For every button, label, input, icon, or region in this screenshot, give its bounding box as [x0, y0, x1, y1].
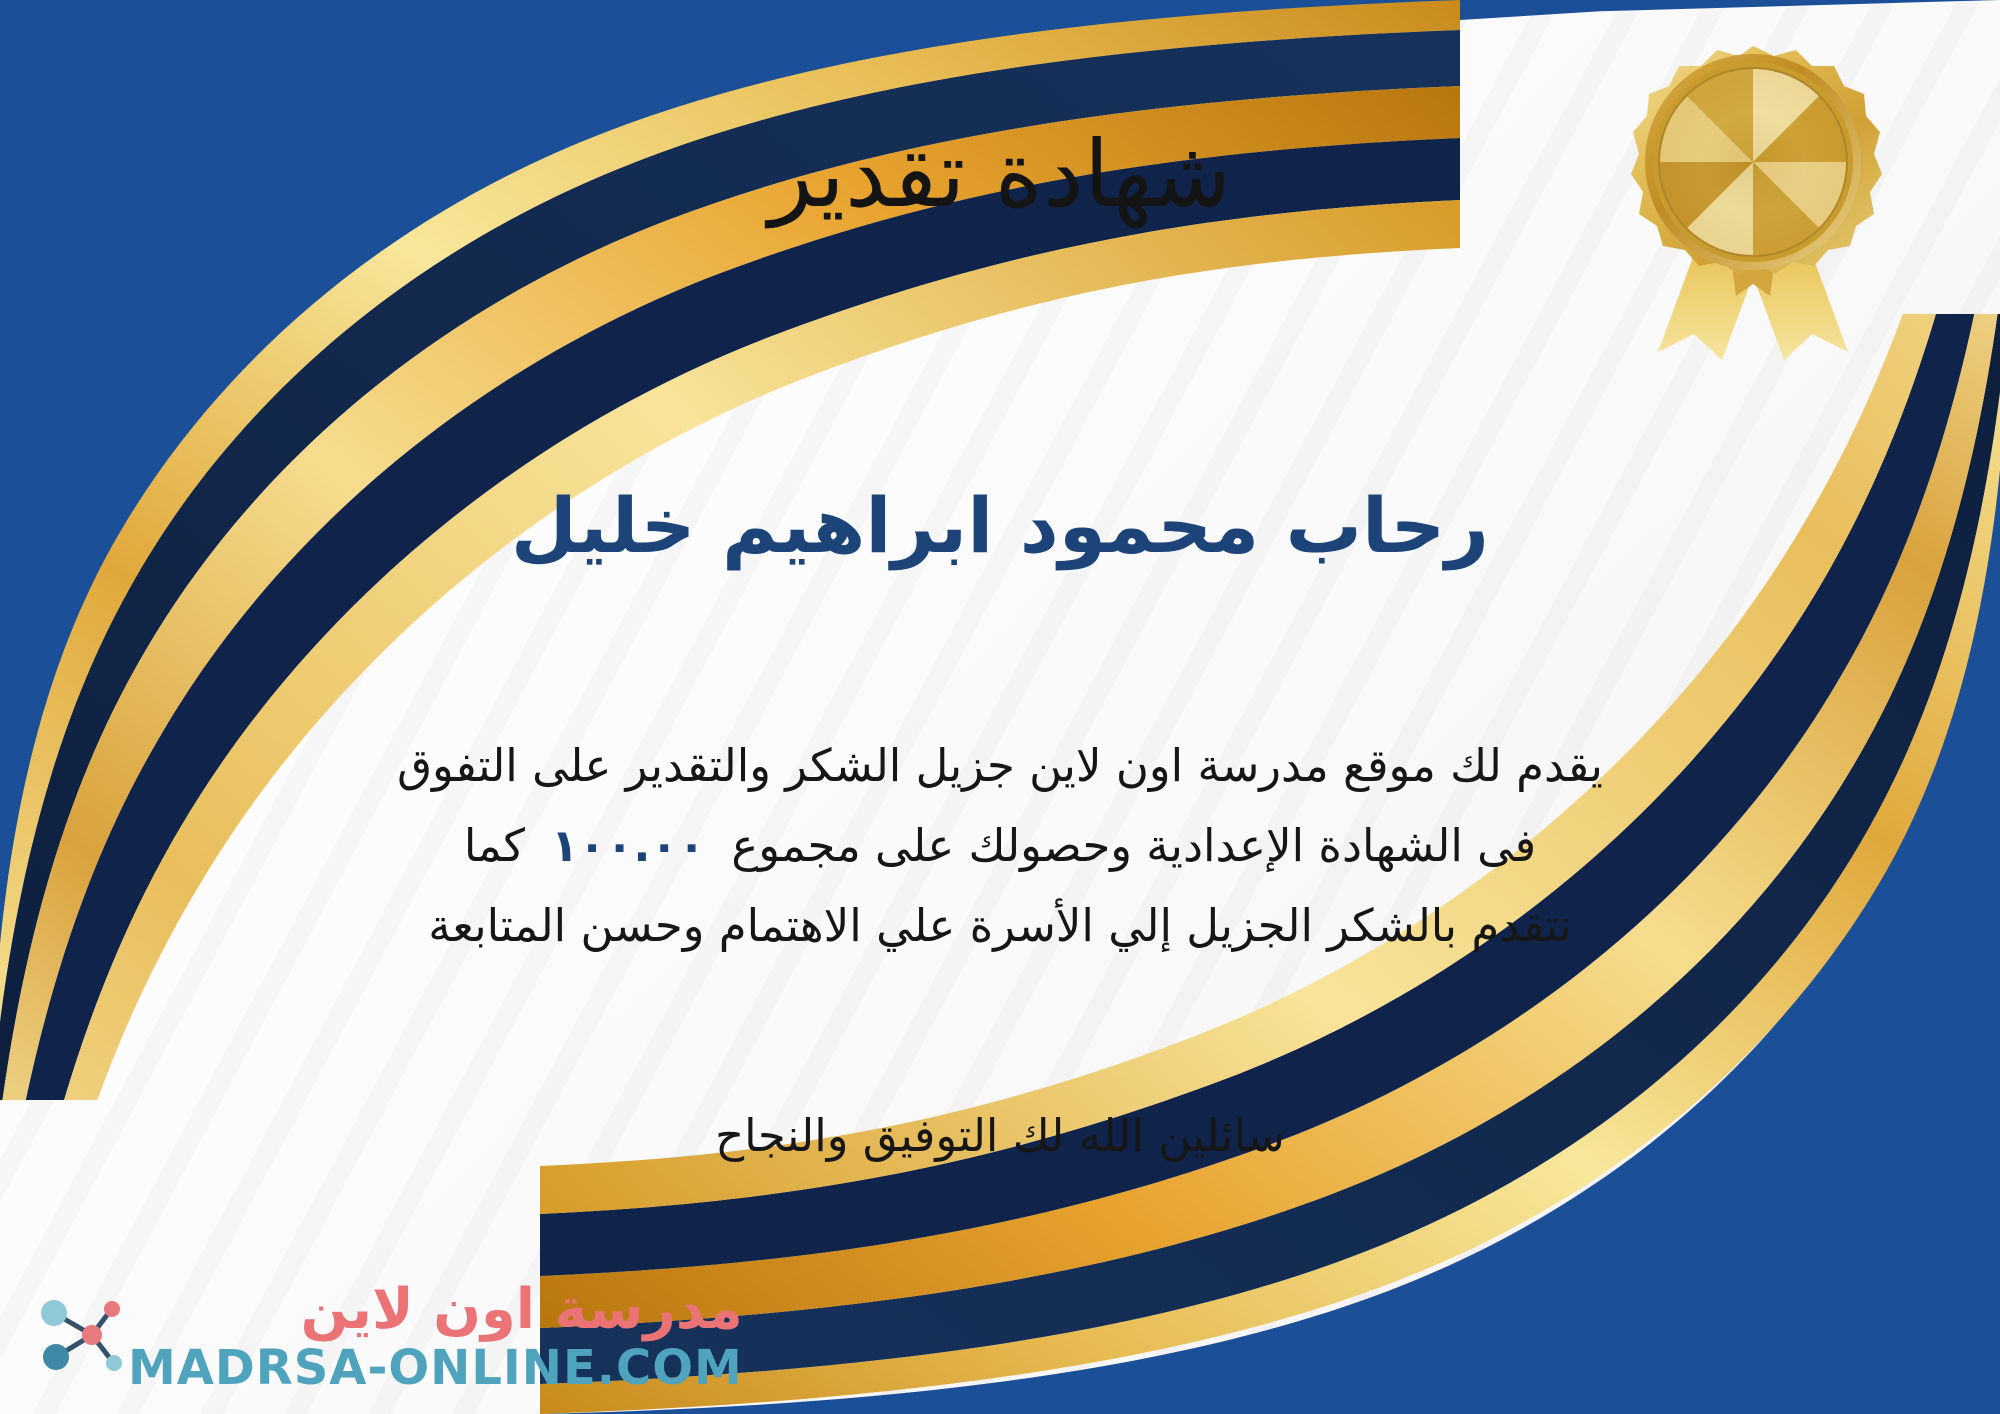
- body-line-2-prefix: فى الشهادة الإعدادية وحصولك على مجموع: [731, 819, 1536, 872]
- certificate-body: يقدم لك موقع مدرسة اون لاين جزيل الشكر و…: [60, 726, 1940, 966]
- brand-logo-text: مدرسة اون لاين MADRSA-ONLINE.COM: [128, 1282, 743, 1392]
- body-line-2-suffix: كما: [464, 819, 525, 872]
- recipient-name: رحاب محمود ابراهيم خليل: [0, 478, 2000, 573]
- brand-logo[interactable]: مدرسة اون لاين MADRSA-ONLINE.COM: [26, 1282, 743, 1392]
- body-line-3: نتقدم بالشكر الجزيل إلي الأسرة علي الاهت…: [60, 886, 1940, 966]
- brand-arabic-name: مدرسة اون لاين: [301, 1282, 743, 1338]
- brand-website-url: MADRSA-ONLINE.COM: [128, 1344, 743, 1392]
- score-value: ١٠٠.٠٠: [525, 819, 731, 872]
- body-line-2: فى الشهادة الإعدادية وحصولك على مجموع١٠٠…: [60, 806, 1940, 886]
- certificate-page: شهادة تقدير رحاب محمود ابراهيم خليل يقدم…: [0, 0, 2000, 1414]
- closing-line: سائلين الله لك التوفيق والنجاح: [0, 1098, 2000, 1175]
- body-line-1: يقدم لك موقع مدرسة اون لاين جزيل الشكر و…: [60, 726, 1940, 806]
- page-title: شهادة تقدير: [0, 122, 2000, 228]
- network-nodes-icon: [30, 1291, 122, 1383]
